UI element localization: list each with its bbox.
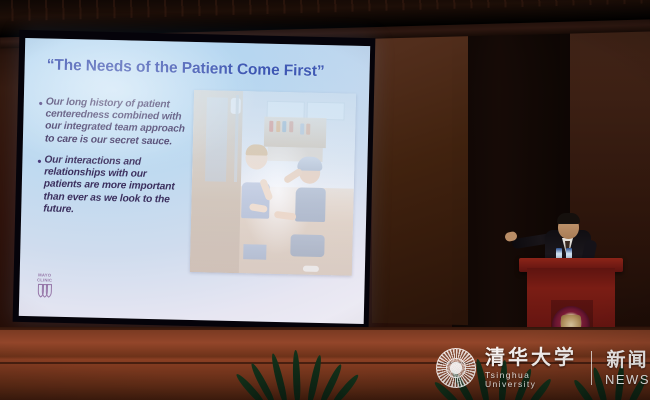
- presentation-photo: “The Needs of the Patient Come First” • …: [0, 0, 650, 400]
- list-item: • Our long history of patient centeredne…: [35, 96, 188, 149]
- tsinghua-seal-icon: [436, 348, 476, 388]
- photo-projection-wash: [190, 90, 356, 276]
- projection-screen: “The Needs of the Patient Come First” • …: [19, 38, 370, 324]
- right-wall-panel: [372, 23, 468, 325]
- list-item: • Our interactions and relationships wit…: [33, 154, 186, 219]
- projection-screen-frame: “The Needs of the Patient Come First” • …: [13, 30, 376, 330]
- potted-plant: [250, 348, 360, 400]
- university-name-en: Tsinghua University: [485, 371, 578, 388]
- mayo-clinic-logo: MAYO CLINIC: [27, 272, 62, 303]
- glasses-icon: [559, 223, 578, 228]
- news-label-cn: 新闻: [606, 351, 648, 370]
- university-name-block: 清华大学 Tsinghua University: [485, 348, 578, 388]
- bullet-text: Our interactions and relationships with …: [43, 154, 186, 219]
- tsinghua-news-watermark: 清华大学 Tsinghua University 新闻 NEWS: [436, 348, 650, 388]
- slide-title: “The Needs of the Patient Come First”: [46, 56, 346, 81]
- watermark-divider: [591, 351, 592, 385]
- bullet-text: Our long history of patient centeredness…: [45, 96, 188, 148]
- university-name-cn: 清华大学: [485, 348, 578, 368]
- slide-photo: [190, 90, 356, 276]
- mayo-shields-icon: [27, 283, 61, 299]
- news-label-block: 新闻 NEWS: [605, 351, 650, 386]
- slide-bullet-list: • Our long history of patient centeredne…: [33, 96, 188, 228]
- news-label-en: NEWS: [605, 373, 650, 386]
